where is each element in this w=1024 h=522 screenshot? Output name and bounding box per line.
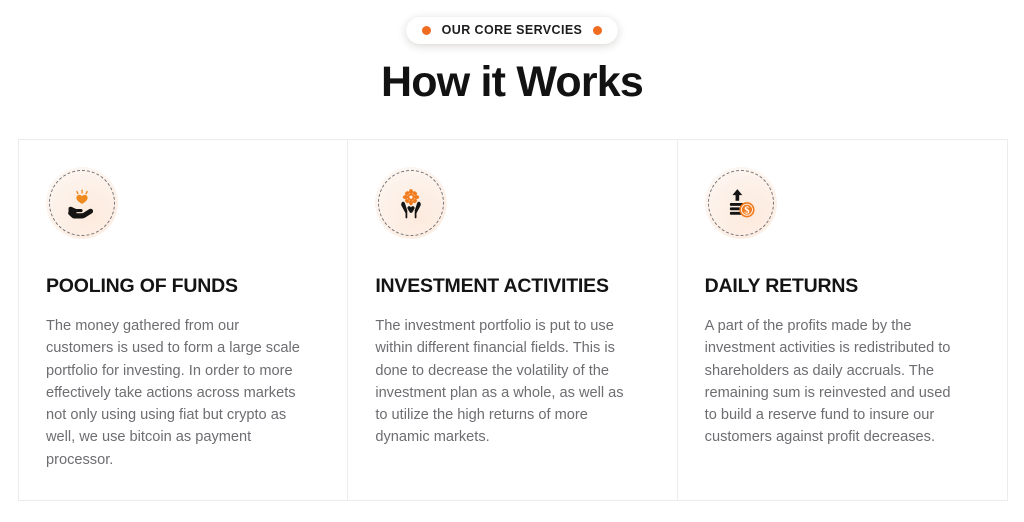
- badge-container: OUR CORE SERVCIES: [0, 0, 1024, 44]
- feature-card-title: INVESTMENT ACTIVITIES: [375, 275, 648, 298]
- dot-icon-right: [593, 26, 602, 35]
- feature-card-body: A part of the profits made by the invest…: [705, 315, 967, 449]
- hands-holding-flower-icon: [375, 167, 447, 239]
- feature-card-grid: POOLING OF FUNDS The money gathered from…: [18, 139, 1008, 501]
- feature-card-body: The investment portfolio is put to use w…: [375, 315, 637, 449]
- how-it-works-section: OUR CORE SERVCIES How it Works POOLING O…: [0, 0, 1024, 522]
- feature-card-daily-returns: $ DAILY RETURNS A part of the profits ma…: [678, 140, 1007, 500]
- svg-text:$: $: [744, 205, 750, 217]
- page-title: How it Works: [0, 58, 1024, 107]
- dot-icon-left: [422, 26, 431, 35]
- feature-card-pooling-of-funds: POOLING OF FUNDS The money gathered from…: [19, 140, 348, 500]
- section-eyebrow-badge: OUR CORE SERVCIES: [406, 17, 619, 44]
- coins-growth-arrow-icon: $: [705, 167, 777, 239]
- section-eyebrow-label: OUR CORE SERVCIES: [442, 23, 583, 37]
- hand-holding-heart-icon: [46, 167, 118, 239]
- feature-card-body: The money gathered from our customers is…: [46, 315, 308, 471]
- feature-card-investment-activities: INVESTMENT ACTIVITIES The investment por…: [348, 140, 677, 500]
- feature-card-title: POOLING OF FUNDS: [46, 275, 319, 298]
- feature-card-title: DAILY RETURNS: [705, 275, 979, 298]
